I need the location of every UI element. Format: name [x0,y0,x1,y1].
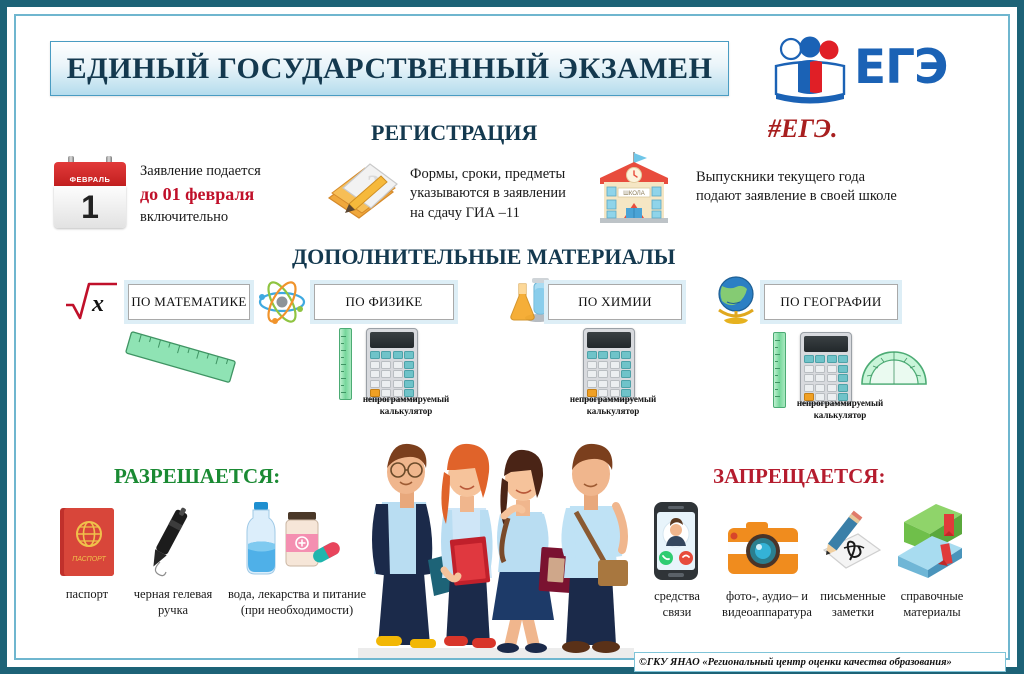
calculator-caption-physics: непрограммируемый калькулятор [354,393,458,417]
water-bottle-medicine-icon [232,500,344,580]
registration-text-1: Заявление подается до 01 февраля включит… [140,162,320,228]
ege-hashtag: #ЕГЭ. [768,114,837,144]
registration-text-2: Формы, сроки, предметы указываются в зая… [410,165,610,223]
subject-box-chemistry[interactable]: ПО ХИМИИ [548,284,682,320]
subject-box-physics[interactable]: ПО ФИЗИКЕ [314,284,454,320]
ruler-vertical-icon-geo [773,332,786,408]
ege-logo-mark-icon [768,36,852,104]
subject-label-math: ПО МАТЕМАТИКЕ [131,294,246,310]
allowed-heading: РАЗРЕШАЕТСЯ: [114,464,280,489]
allowed-cap-pen-l1: черная гелевая [118,586,228,602]
reg2-line2: указываются в заявлении [410,184,610,203]
documents-question-icon: ? [323,158,401,224]
page-title: ЕДИНЫЙ ГОСУДАРСТВЕННЫЙ ЭКЗАМЕН [50,41,729,96]
poster-canvas: ЕДИНЫЙ ГОСУДАРСТВЕННЫЙ ЭКЗАМЕН ЕГЭ #ЕГЭ.… [16,16,1008,658]
calculator-caption-geo: непрограммируемый калькулятор [788,397,892,421]
forbidden-cap-camera-l2: видеоаппаратура [710,604,824,620]
poster-frame: ЕДИНЫЙ ГОСУДАРСТВЕННЫЙ ЭКЗАМЕН ЕГЭ #ЕГЭ.… [0,0,1024,674]
allowed-caption-passport: паспорт [49,586,125,602]
four-students-illustration [348,420,644,664]
subject-box-math[interactable]: ПО МАТЕМАТИКЕ [128,284,250,320]
reg3-line1: Выпускники текущего года [696,168,976,187]
calc-cap-line2-chem: калькулятор [561,405,665,417]
passport-badge-text: ПАСПОРТ [72,556,106,563]
reg1-line1: Заявление подается [140,162,320,181]
forbidden-cap-books-l1: справочные [890,588,974,604]
forbidden-cap-notes-l1: письменные [810,588,896,604]
page-title-text: ЕДИНЫЙ ГОСУДАРСТВЕННЫЙ ЭКЗАМЕН [67,52,713,86]
passport-icon: ПАСПОРТ [56,506,118,578]
atom-icon [256,280,308,324]
ruler-vertical-icon-physics [339,328,352,400]
calculator-icon-geo [800,332,852,404]
materials-heading: ДОПОЛНИТЕЛЬНЫЕ МАТЕРИАЛЫ [292,244,675,270]
school-sign-text: ШКОЛА [623,191,644,197]
allowed-caption-water: вода, лекарства и питание (при необходим… [222,586,372,619]
forbidden-heading: ЗАПРЕЩАЕТСЯ: [713,464,885,489]
pencil-notes-icon [810,508,886,580]
calc-cap-line1-physics: непрограммируемый [354,393,458,405]
forbidden-caption-phone: средства связи [636,588,718,621]
svg-text:x: x [91,291,104,317]
reg1-line3: включительно [140,208,320,227]
subject-label-geography: ПО ГЕОГРАФИИ [780,294,881,310]
forbidden-caption-camera: фото-, аудио– и видеоаппаратура [710,588,824,621]
registration-text-3: Выпускники текущего года подают заявлени… [696,168,976,207]
reg2-line3: на сдачу ГИА –11 [410,204,610,223]
square-root-x-icon: x [64,281,120,321]
globe-icon [710,274,764,326]
forbidden-cap-books-l2: материалы [890,604,974,620]
reg1-deadline: до 01 февраля [140,183,320,207]
forbidden-cap-camera-l1: фото-, аудио– и [710,588,824,604]
calc-cap-line2-physics: калькулятор [354,405,458,417]
reference-books-icon [892,500,968,580]
calculator-icon-physics [366,328,418,400]
subject-label-chemistry: ПО ХИМИИ [578,294,652,310]
calendar-day: 1 [81,191,99,223]
poster-inner-frame: ЕДИНЫЙ ГОСУДАРСТВЕННЫЙ ЭКЗАМЕН ЕГЭ #ЕГЭ.… [14,14,1010,660]
forbidden-cap-notes-l2: заметки [810,604,896,620]
subject-box-geography[interactable]: ПО ГЕОГРАФИИ [764,284,898,320]
forbidden-caption-notes: письменные заметки [810,588,896,621]
ege-logo: ЕГЭ [768,36,968,108]
school-building-icon: ШКОЛА [586,150,682,230]
registration-heading: РЕГИСТРАЦИЯ [371,120,537,146]
calc-cap-line2-geo: калькулятор [788,409,892,421]
calculator-caption-chemistry: непрограммируемый калькулятор [561,393,665,417]
reg2-line1: Формы, сроки, предметы [410,165,610,184]
mobile-phone-call-icon [652,500,700,582]
allowed-cap-pen-l2: ручка [118,602,228,618]
footer-copyright: ©ГКУ ЯНАО «Региональный центр оценки кач… [634,652,1006,672]
forbidden-cap-phone-l2: связи [636,604,718,620]
forbidden-caption-books: справочные материалы [890,588,974,621]
footer-text: ©ГКУ ЯНАО «Региональный центр оценки кач… [639,657,952,668]
allowed-cap-passport-l1: паспорт [49,586,125,602]
ruler-diagonal-icon [120,328,240,390]
calculator-icon-chemistry [583,328,635,400]
subject-label-physics: ПО ФИЗИКЕ [346,294,423,310]
calendar-icon: ФЕВРАЛЬ 1 [54,156,126,228]
allowed-cap-water-l1: вода, лекарства и питание [222,586,372,602]
reg3-line2: подают заявление в своей школе [696,187,976,206]
calc-cap-line1-geo: непрограммируемый [788,397,892,409]
camera-icon [726,516,800,578]
allowed-cap-water-l2: (при необходимости) [222,602,372,618]
calendar-month: ФЕВРАЛЬ [70,175,111,186]
allowed-caption-pen: черная гелевая ручка [118,586,228,619]
protractor-icon [859,346,929,388]
black-gel-pen-icon [134,504,200,580]
forbidden-cap-phone-l1: средства [636,588,718,604]
ege-logo-text: ЕГЭ [854,40,948,95]
calc-cap-line1-chem: непрограммируемый [561,393,665,405]
